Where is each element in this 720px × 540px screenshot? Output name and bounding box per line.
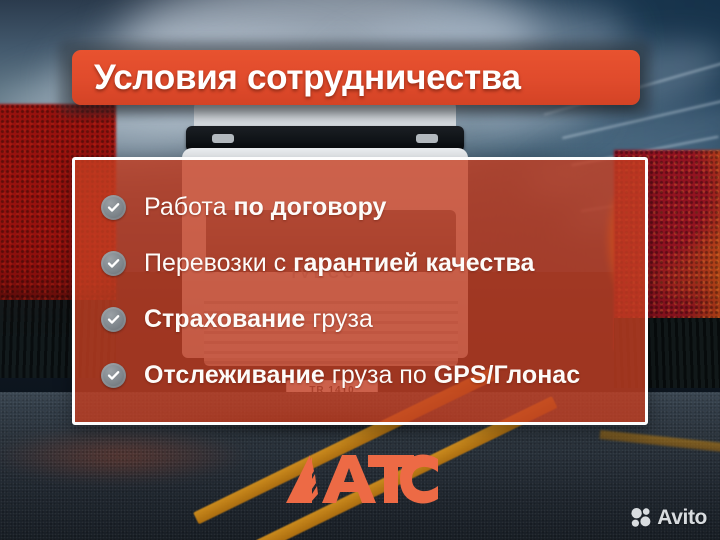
label-strong-2: GPS/Глонас xyxy=(434,361,580,389)
visor-lamp xyxy=(212,134,234,143)
label-suffix: груза по xyxy=(325,361,434,389)
list-item: Страхование груза xyxy=(101,291,645,347)
label-strong: по договору xyxy=(233,193,386,221)
list-item-label: Перевозки с гарантией качества xyxy=(144,249,534,277)
promo-banner: IVECO TR 1410 Условия сотрудничества xyxy=(0,0,720,540)
benefits-panel: Работа по договору Перевозки с гарантией… xyxy=(72,157,648,425)
list-item-label: Страхование груза xyxy=(144,305,373,333)
label-strong: Страхование xyxy=(144,305,305,333)
list-item-label: Работа по договору xyxy=(144,193,386,221)
avito-watermark: Avito xyxy=(631,507,707,528)
list-item: Отслеживание груза по GPS/Глонас xyxy=(101,347,645,403)
check-circle-icon xyxy=(101,363,126,388)
label-prefix: Работа xyxy=(144,193,233,221)
label-prefix: Перевозки с xyxy=(144,249,293,277)
check-circle-icon xyxy=(101,195,126,220)
list-item-label: Отслеживание груза по GPS/Глонас xyxy=(144,361,580,389)
label-strong: гарантией качества xyxy=(293,249,534,277)
check-circle-icon xyxy=(101,307,126,332)
visor-lamp xyxy=(416,134,438,143)
label-strong: Отслеживание xyxy=(144,361,325,389)
avito-dots-icon xyxy=(631,507,652,528)
atc-logo: ATC xyxy=(282,452,440,508)
title-bar: Условия сотрудничества xyxy=(72,50,640,105)
list-item: Работа по договору xyxy=(101,179,645,235)
list-item: Перевозки с гарантией качества xyxy=(101,235,645,291)
avito-label: Avito xyxy=(657,507,707,528)
page-title: Условия сотрудничества xyxy=(94,60,521,95)
label-suffix: груза xyxy=(305,305,373,333)
check-circle-icon xyxy=(101,251,126,276)
